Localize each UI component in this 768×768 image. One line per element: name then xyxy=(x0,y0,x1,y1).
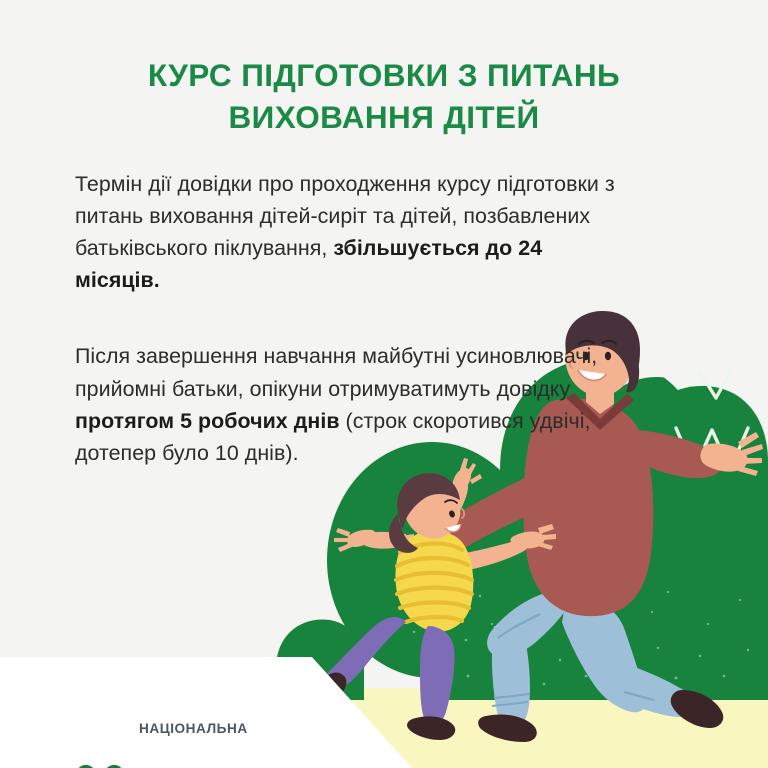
title-line-2: ВИХОВАННЯ ДІТЕЙ xyxy=(70,97,698,139)
logo-text: НАЦІОНАЛЬНА СОЦІАЛЬНА СЕРВІСНА СЛУЖБА УК… xyxy=(139,680,306,768)
body-copy: Термін дії довідки про проходження курсу… xyxy=(75,168,615,469)
logo-text-line-1: НАЦІОНАЛЬНА xyxy=(139,719,306,738)
organization-logo: НАЦІОНАЛЬНА СОЦІАЛЬНА СЕРВІСНА СЛУЖБА УК… xyxy=(72,680,306,768)
paragraph-2-bold: протягом 5 робочих днів xyxy=(75,409,340,433)
page-title: КУРС ПІДГОТОВКИ З ПИТАНЬ ВИХОВАННЯ ДІТЕЙ xyxy=(0,55,768,138)
paragraph-1: Термін дії довідки про проходження курсу… xyxy=(75,168,615,296)
adult-front-shin xyxy=(492,626,530,729)
paragraph-2-part-1: Після завершення навчання майбутні усино… xyxy=(75,344,597,400)
infographic-poster: КУРС ПІДГОТОВКИ З ПИТАНЬ ВИХОВАННЯ ДІТЕЙ… xyxy=(0,0,768,768)
heart-hand-icon xyxy=(72,757,128,768)
paragraph-2: Після завершення навчання майбутні усино… xyxy=(75,340,615,468)
title-line-1: КУРС ПІДГОТОВКИ З ПИТАНЬ xyxy=(70,55,698,97)
